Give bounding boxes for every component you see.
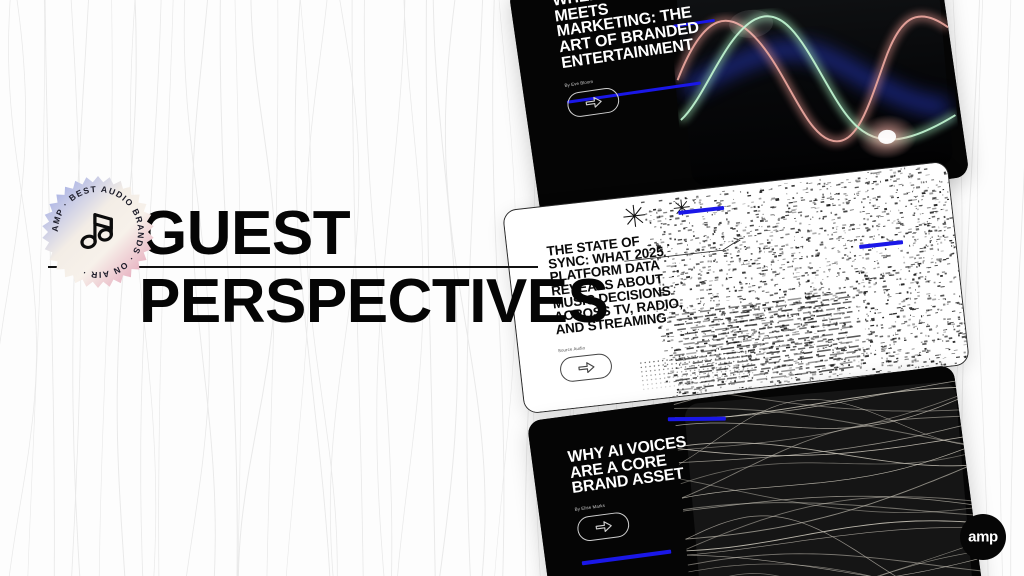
card-1-headline: WHERE MUSIC MEETS MARKETING: THE ART OF … — [551, 0, 706, 71]
arrow-right-icon — [594, 519, 613, 534]
amp-logo-text: amp — [968, 529, 998, 544]
slide-canvas: AMP · BEST AUDIO BRANDS · ON AIR · GUEST… — [0, 0, 1024, 576]
card-1-text-group: WHERE MUSIC MEETS MARKETING: THE ART OF … — [551, 0, 713, 119]
arrow-right-icon — [584, 95, 603, 110]
amp-logo: amp — [960, 514, 1006, 560]
card-3-accent-bar-top — [668, 417, 726, 422]
best-audio-brands-badge: AMP · BEST AUDIO BRANDS · ON AIR · — [38, 172, 158, 292]
arrow-right-icon — [577, 360, 595, 375]
card-3-text-group: WHY AI VOICES ARE A CORE BRAND ASSET By … — [567, 431, 728, 543]
card-2-byline: Source Audio — [558, 333, 690, 353]
